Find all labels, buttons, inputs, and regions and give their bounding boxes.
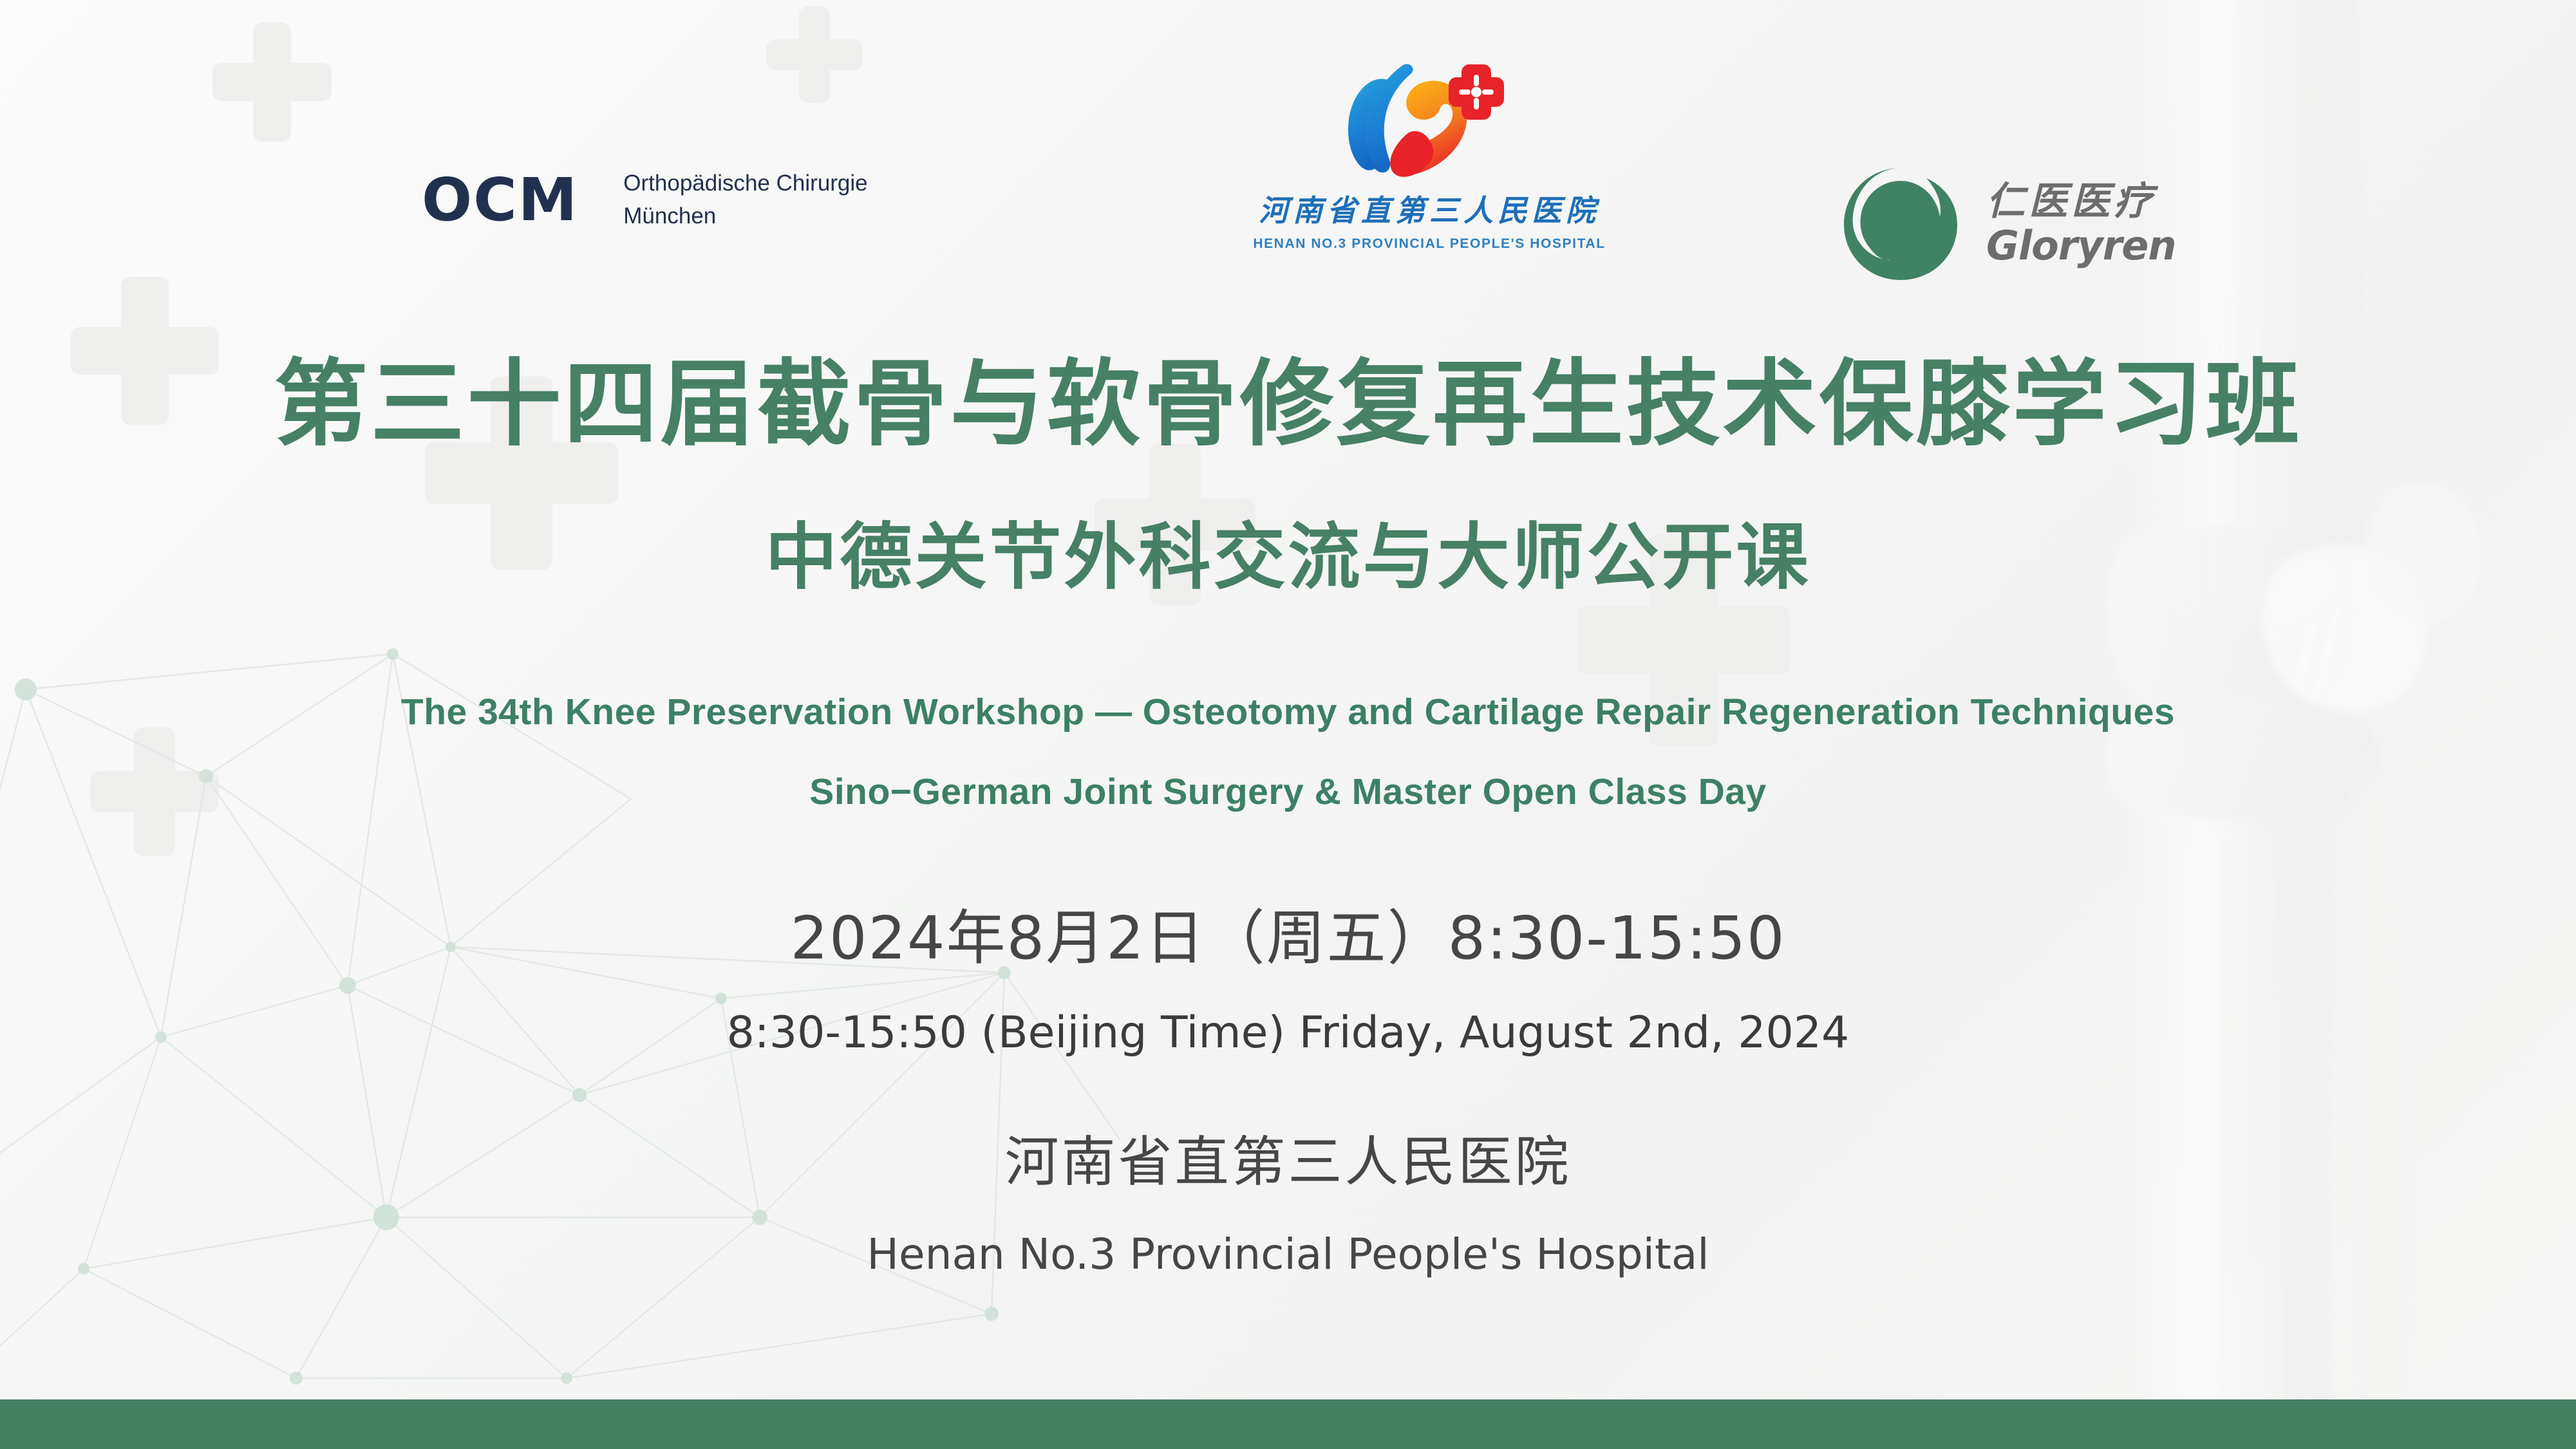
event-venue-en: Henan No.3 Provincial People's Hospital xyxy=(0,1229,2576,1279)
event-poster: OCM Orthopädische Chirurgie München xyxy=(0,0,2576,1449)
page-title-en-primary: The 34th Knee Preservation Workshop — Os… xyxy=(0,691,2576,733)
event-date-en: 8:30-15:50 (Beijing Time) Friday, August… xyxy=(0,1007,2576,1058)
poster-content: 第三十四届截骨与软骨修复再生技术保膝学习班 中德关节外科交流与大师公开课 The… xyxy=(0,0,2576,1449)
event-date-cn: 2024年8月2日（周五）8:30-15:50 xyxy=(0,901,2576,975)
page-title-cn-primary: 第三十四届截骨与软骨修复再生技术保膝学习班 xyxy=(0,357,2576,451)
page-title-cn-secondary: 中德关节外科交流与大师公开课 xyxy=(0,521,2576,594)
page-title-en-secondary: Sino−German Joint Surgery & Master Open … xyxy=(0,771,2576,813)
event-venue-cn: 河南省直第三人民医院 xyxy=(0,1119,2576,1197)
bottom-accent-bar xyxy=(0,1399,2576,1449)
